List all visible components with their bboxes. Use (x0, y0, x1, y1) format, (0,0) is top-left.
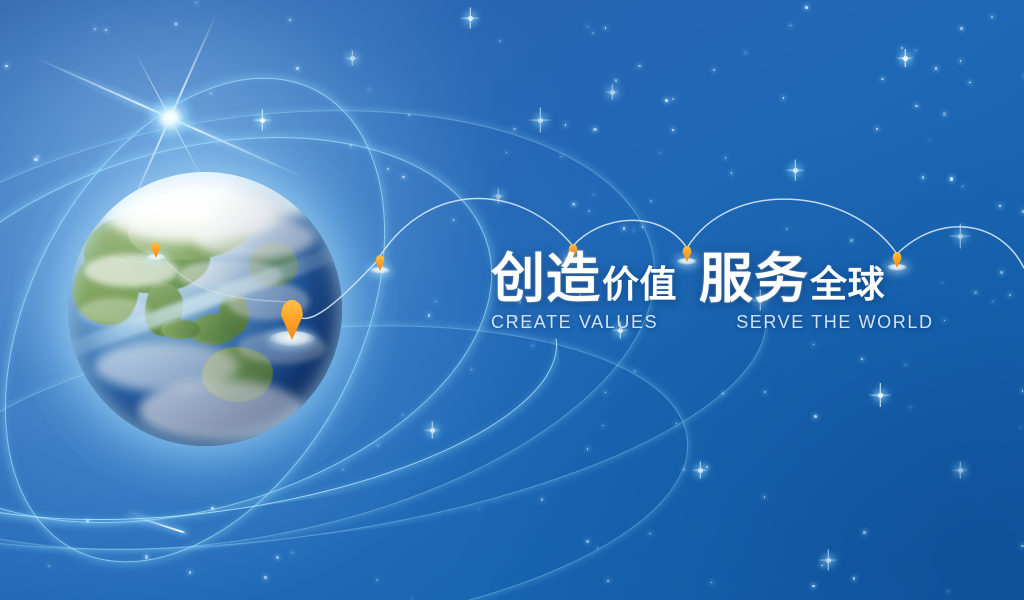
star-twinkle (785, 160, 806, 181)
star-particle (593, 194, 594, 195)
headline-phrase-one-secondary: 价值 (602, 264, 677, 305)
star-twinkle (345, 51, 360, 66)
star-particle (659, 152, 660, 153)
star-particle (863, 531, 865, 533)
star-particle (942, 282, 943, 283)
headline-phrase-two-secondary: 全球 (810, 264, 885, 305)
star-particle (189, 571, 192, 574)
connection-arc-5 (897, 227, 1024, 268)
star-particle (960, 27, 963, 30)
star-particle (929, 140, 930, 141)
star-particle (402, 176, 405, 179)
star-particle (350, 144, 353, 147)
star-particle (408, 114, 410, 116)
star-particle (764, 391, 766, 393)
star-particle (602, 425, 604, 427)
star-particle (506, 152, 507, 153)
star-particle (342, 469, 344, 471)
headline: 创造价值服务全球 (491, 252, 911, 306)
star-particle (561, 156, 563, 158)
star-particle (850, 239, 852, 241)
star-particle (376, 579, 378, 581)
star-particle (513, 128, 516, 131)
star-particle (881, 78, 884, 81)
star-particle (672, 129, 674, 131)
star-particle (1022, 390, 1023, 391)
star-particle (910, 407, 911, 408)
star-particle (764, 496, 766, 498)
star-particle (969, 82, 971, 84)
star-particle (962, 186, 964, 188)
star-particle (722, 393, 724, 395)
star-particle (175, 23, 177, 25)
star-particle (428, 314, 431, 317)
star-particle (597, 547, 599, 549)
star-particle (634, 370, 637, 373)
headline-phrase-one-primary: 创造 (491, 249, 601, 309)
star-particle (812, 585, 815, 588)
star-twinkle (868, 383, 892, 407)
earth-globe (68, 172, 342, 446)
star-particle (605, 392, 606, 393)
star-particle (1020, 427, 1021, 428)
star-twinkle (528, 108, 553, 133)
star-particle (999, 205, 1001, 207)
star-particle (950, 177, 954, 181)
subheadline-english-one: CREATE VALUES (491, 312, 658, 332)
star-particle (922, 176, 925, 179)
star-particle (963, 226, 964, 227)
star-particle (572, 203, 574, 205)
star-particle (711, 582, 712, 583)
star-particle (34, 158, 37, 161)
star-particle (1021, 545, 1023, 547)
star-particle (105, 29, 107, 31)
star-twinkle (948, 224, 973, 249)
star-particle (587, 26, 588, 27)
star-particle (992, 301, 993, 302)
star-twinkle (460, 8, 481, 29)
star-particle (683, 468, 685, 470)
connection-arc-3 (573, 220, 687, 248)
star-particle (633, 230, 634, 231)
star-particle (411, 598, 412, 599)
star-particle (435, 301, 436, 302)
star-particle (861, 358, 863, 360)
star-particle (607, 580, 608, 581)
star-particle (453, 219, 455, 221)
star-particle (574, 204, 576, 206)
star-particle (706, 466, 708, 468)
star-particle (292, 552, 293, 553)
star-particle (471, 369, 472, 370)
star-twinkle (952, 462, 969, 479)
star-particle (541, 498, 543, 500)
star-particle (853, 577, 856, 580)
star-particle (592, 32, 594, 34)
star-particle (210, 93, 212, 95)
star-particle (86, 520, 89, 523)
star-particle (289, 19, 292, 22)
star-particle (565, 124, 567, 126)
star-particle (478, 509, 479, 510)
star-particle (905, 364, 906, 365)
star-twinkle (491, 189, 506, 204)
star-particle (960, 60, 962, 62)
connection-arc-2 (380, 198, 573, 256)
star-twinkle (818, 550, 839, 571)
star-particle (991, 16, 993, 18)
star-particle (672, 98, 674, 100)
star-twinkle (896, 49, 914, 67)
star-particle (786, 228, 788, 230)
star-particle (499, 40, 500, 41)
star-particle (731, 172, 732, 173)
star-particle (725, 157, 727, 159)
star-particle (586, 540, 589, 543)
star-particle (813, 344, 815, 346)
star-particle (745, 52, 746, 53)
star-particle (377, 445, 378, 446)
star-particle (1009, 294, 1011, 296)
star-twinkle (605, 85, 620, 100)
star-particle (935, 67, 937, 69)
star-particle (402, 414, 403, 415)
star-particle (387, 168, 389, 170)
pin-base (370, 267, 390, 274)
star-twinkle (252, 110, 273, 131)
star-particle (196, 2, 198, 4)
star-particle (783, 97, 785, 99)
star-particle (48, 565, 50, 567)
star-particle (642, 226, 644, 228)
star-particle (1022, 210, 1024, 212)
subheadline-english-two: SERVE THE WORLD (736, 312, 933, 332)
star-particle (876, 128, 878, 130)
star-particle (665, 99, 668, 102)
star-particle (650, 200, 652, 202)
star-particle (790, 25, 791, 26)
star-twinkle (424, 422, 441, 439)
star-particle (5, 65, 7, 67)
star-particle (211, 507, 214, 510)
headline-phrase-two-primary: 服务 (699, 249, 809, 309)
star-particle (943, 112, 946, 115)
subheadline: CREATE VALUESSERVE THE WORLD (491, 312, 921, 333)
star-particle (915, 50, 916, 51)
star-particle (649, 533, 650, 534)
star-particle (532, 345, 533, 346)
star-particle (369, 89, 370, 90)
star-particle (944, 320, 945, 321)
star-particle (821, 565, 823, 567)
pin-marker-icon (376, 255, 385, 271)
star-particle (1000, 271, 1002, 273)
connection-arc-4 (687, 199, 897, 254)
star-particle (638, 65, 640, 67)
star-particle (37, 156, 38, 157)
star-particle (805, 6, 808, 9)
star-particle (623, 227, 626, 230)
star-particle (593, 128, 597, 132)
star-particle (615, 79, 617, 81)
star-particle (145, 555, 148, 558)
comet-streak-icon (129, 514, 187, 535)
star-particle (588, 210, 590, 212)
star-particle (296, 67, 300, 71)
star-particle (713, 69, 715, 71)
banner-hero: 创造价值服务全球 CREATE VALUESSERVE THE WORLD (0, 0, 1024, 600)
star-particle (974, 291, 977, 294)
star-particle (901, 47, 903, 49)
star-particle (276, 556, 279, 559)
star-particle (94, 28, 96, 30)
star-particle (676, 423, 677, 424)
star-twinkle (692, 462, 709, 479)
star-particle (605, 27, 607, 29)
star-particle (915, 105, 918, 108)
star-particle (264, 576, 267, 579)
star-particle (814, 415, 817, 418)
star-particle (587, 448, 588, 449)
star-particle (948, 591, 949, 592)
